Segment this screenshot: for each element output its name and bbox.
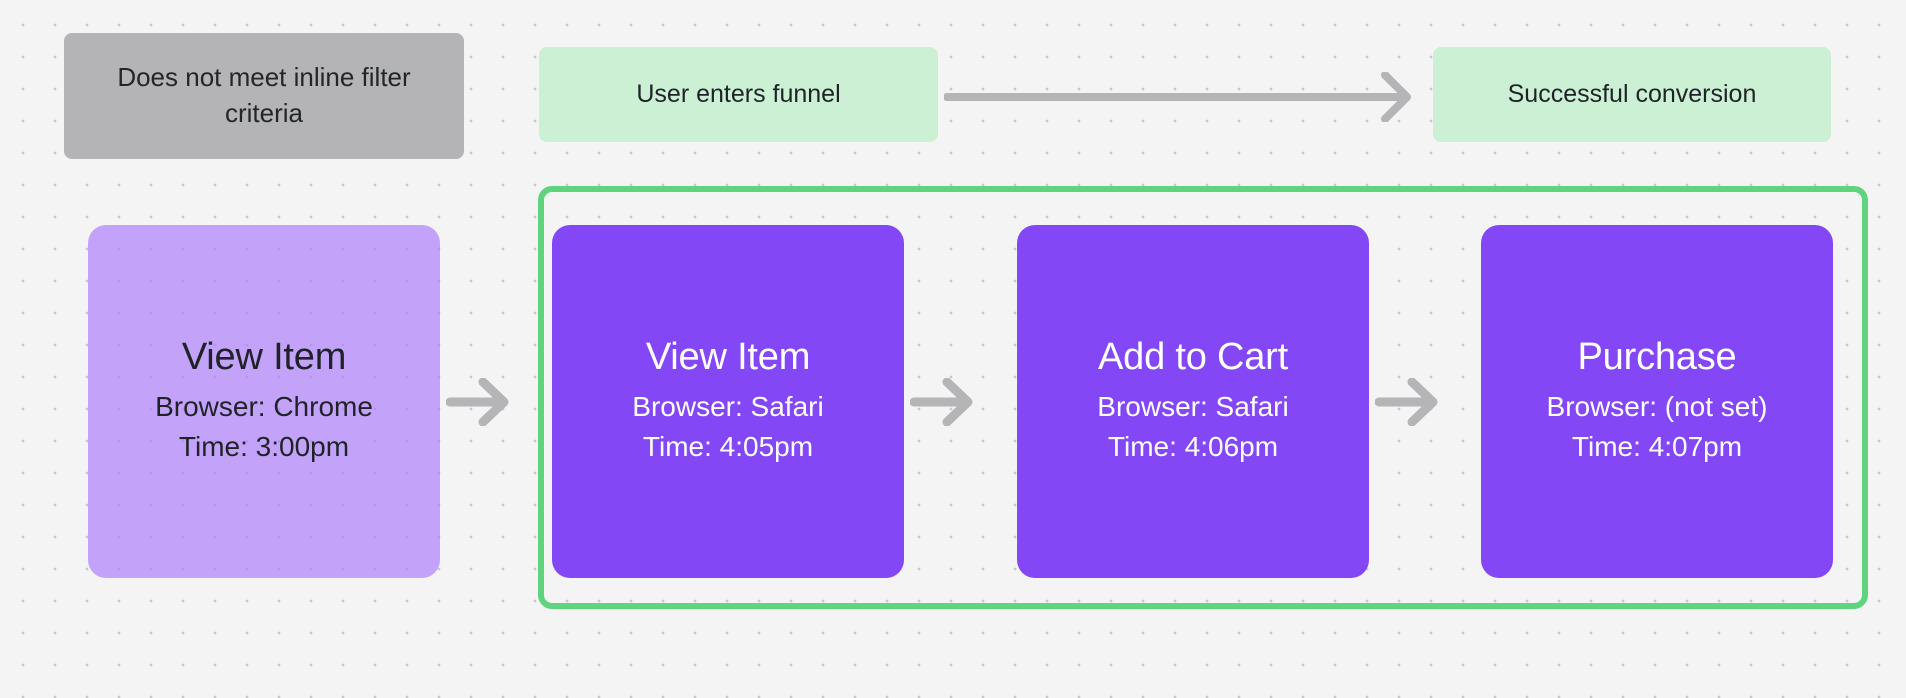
event-card-browser: Browser: Chrome	[155, 387, 373, 427]
event-card-step-2[interactable]: Add to Cart Browser: Safari Time: 4:06pm	[1017, 225, 1369, 578]
step-arrow-3	[1375, 378, 1449, 426]
legend-enters-funnel-label: User enters funnel	[636, 80, 840, 109]
right-arrow-icon	[910, 378, 984, 426]
legend-flow-arrow	[944, 72, 1428, 122]
right-arrow-icon	[1375, 378, 1449, 426]
event-card-browser: Browser: (not set)	[1547, 387, 1768, 427]
legend-excluded-box: Does not meet inline filter criteria	[64, 33, 464, 159]
diagram-canvas: Does not meet inline filter criteria Use…	[0, 0, 1906, 698]
event-card-title: Purchase	[1578, 336, 1737, 380]
event-card-browser: Browser: Safari	[1097, 387, 1288, 427]
event-card-excluded[interactable]: View Item Browser: Chrome Time: 3:00pm	[88, 225, 440, 578]
event-card-time: Time: 4:05pm	[643, 427, 813, 467]
event-card-time: Time: 4:07pm	[1572, 427, 1742, 467]
event-card-title: View Item	[646, 336, 810, 380]
event-card-time: Time: 4:06pm	[1108, 427, 1278, 467]
event-card-title: Add to Cart	[1098, 336, 1288, 380]
right-arrow-icon	[944, 72, 1428, 122]
event-card-step-3[interactable]: Purchase Browser: (not set) Time: 4:07pm	[1481, 225, 1833, 578]
event-card-title: View Item	[182, 336, 346, 380]
step-arrow-2	[910, 378, 984, 426]
legend-successful-conversion-label: Successful conversion	[1508, 80, 1757, 109]
event-card-step-1[interactable]: View Item Browser: Safari Time: 4:05pm	[552, 225, 904, 578]
legend-successful-conversion-box: Successful conversion	[1433, 47, 1831, 142]
legend-excluded-label: Does not meet inline filter criteria	[92, 60, 436, 132]
event-card-time: Time: 3:00pm	[179, 427, 349, 467]
right-arrow-icon	[446, 378, 520, 426]
legend-enters-funnel-box: User enters funnel	[539, 47, 938, 142]
step-arrow-1	[446, 378, 520, 426]
event-card-browser: Browser: Safari	[632, 387, 823, 427]
